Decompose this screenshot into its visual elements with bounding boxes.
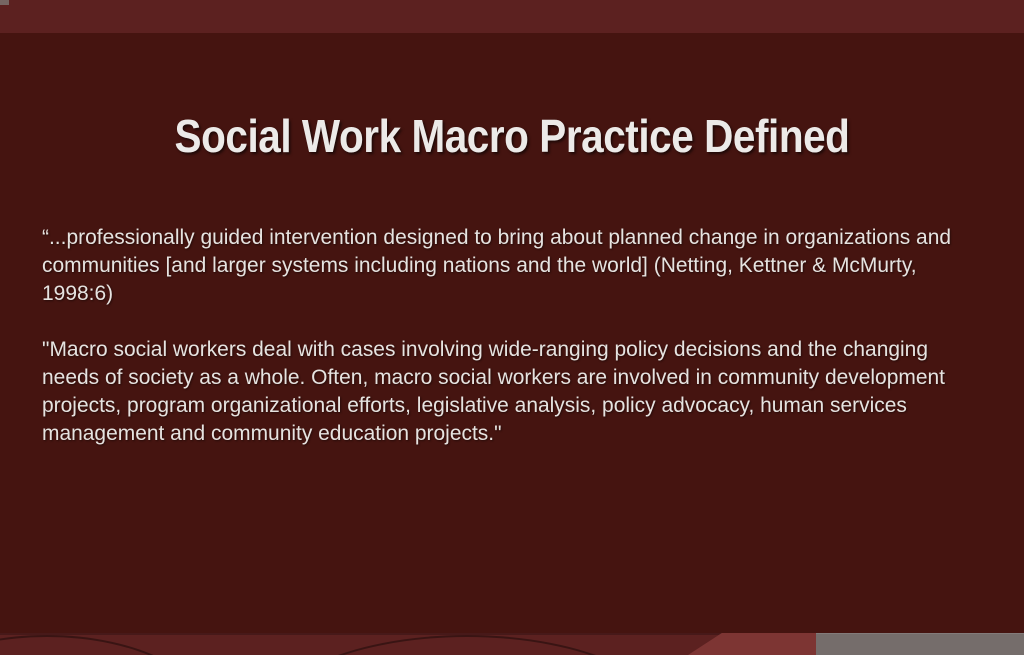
definition-paragraph-1: “...professionally guided intervention d… xyxy=(42,223,978,307)
definition-paragraph-2: "Macro social workers deal with cases in… xyxy=(42,335,978,447)
decorative-arc-middle xyxy=(250,635,684,655)
slide-content-area: Social Work Macro Practice Defined “...p… xyxy=(0,33,1024,633)
bottom-decoration-band xyxy=(0,633,1024,655)
slide-body: “...professionally guided intervention d… xyxy=(42,223,1002,447)
top-left-corner-chip xyxy=(0,0,9,5)
slide-title: Social Work Macro Practice Defined xyxy=(61,109,962,163)
top-decoration-band xyxy=(0,0,1024,33)
footer-gray-plate xyxy=(816,633,1024,655)
footer-gray-plate-edge xyxy=(816,633,1024,634)
decorative-wedge xyxy=(688,633,818,655)
presentation-slide: Social Work Macro Practice Defined “...p… xyxy=(0,0,1024,655)
decorative-arc-left xyxy=(0,635,214,655)
